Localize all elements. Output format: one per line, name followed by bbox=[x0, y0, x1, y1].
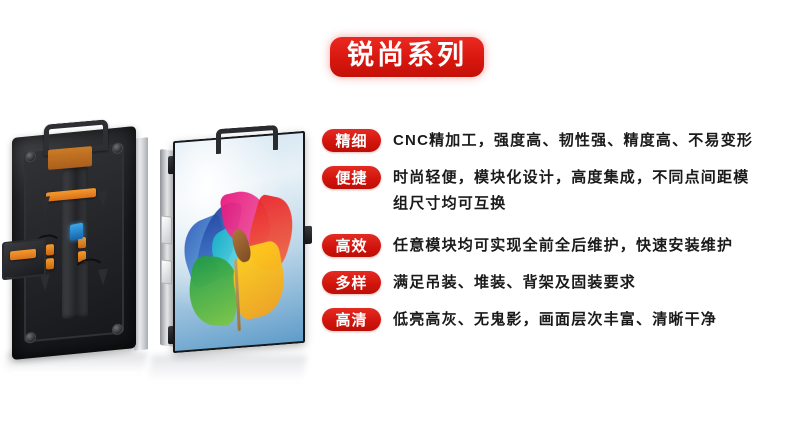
feature-description: CNC精加工，强度高、韧性强、精度高、不易变形 bbox=[393, 128, 753, 154]
product-banner: 锐尚系列 精细 CNC精加工，强度高、韧性强、精度高、不易变形 便捷 时尚轻便，… bbox=[0, 0, 800, 444]
front-cabinet-tab bbox=[161, 215, 172, 244]
feature-row: 高效 任意模块均可实现全前全后维护，快速安装维护 bbox=[322, 233, 792, 259]
feature-row: 高清 低亮高灰、无鬼影，画面层次丰富、清晰干净 bbox=[322, 307, 792, 333]
led-display-screen bbox=[173, 131, 305, 353]
front-cabinet-reflection bbox=[148, 355, 307, 381]
mount-cone bbox=[98, 191, 108, 208]
mount-cone bbox=[40, 274, 50, 291]
feature-row: 便捷 时尚轻便，模块化设计，高度集成，不同点间距模 组尺寸均可互换 bbox=[322, 165, 792, 217]
rear-cabinet-side-rail bbox=[134, 137, 148, 350]
feature-row: 多样 满足吊装、堆装、背架及固装要求 bbox=[322, 270, 792, 296]
feature-tag-gaoxiao: 高效 bbox=[322, 234, 381, 257]
product-image-area bbox=[0, 100, 320, 360]
series-title-badge: 锐尚系列 bbox=[330, 37, 484, 77]
feature-description: 时尚轻便，模块化设计，高度集成，不同点间距模 bbox=[393, 165, 749, 191]
rear-cabinet-side-handle bbox=[2, 238, 46, 281]
led-cabinet-rear-view bbox=[8, 128, 148, 358]
feature-row: 精细 CNC精加工，强度高、韧性强、精度高、不易变形 bbox=[322, 128, 792, 154]
front-cabinet-tab bbox=[161, 259, 172, 284]
feature-tag-bianjie: 便捷 bbox=[322, 166, 381, 189]
led-cabinet-front-view bbox=[160, 130, 310, 358]
feature-description: 任意模块均可实现全前全后维护，快速安装维护 bbox=[393, 233, 733, 259]
mount-cone bbox=[40, 196, 50, 213]
brand-logo-icon bbox=[70, 223, 83, 241]
feature-description: 低亮高灰、无鬼影，画面层次丰富、清晰干净 bbox=[393, 307, 717, 333]
front-cabinet-handle bbox=[216, 125, 278, 154]
feature-description-line2: 组尺寸均可互换 bbox=[393, 191, 749, 217]
rear-cabinet-label-plate bbox=[48, 146, 92, 170]
feature-list: 精细 CNC精加工，强度高、韧性强、精度高、不易变形 便捷 时尚轻便，模块化设计… bbox=[322, 128, 792, 344]
feature-tag-jingxi: 精细 bbox=[322, 129, 381, 152]
screw-icon bbox=[112, 323, 123, 335]
orange-latch-bar bbox=[10, 249, 36, 261]
feature-tag-gaoqing: 高清 bbox=[322, 308, 381, 331]
feature-tag-duoyang: 多样 bbox=[322, 271, 381, 294]
feature-description: 满足吊装、堆装、背架及固装要求 bbox=[393, 270, 636, 296]
screw-icon bbox=[25, 332, 36, 344]
